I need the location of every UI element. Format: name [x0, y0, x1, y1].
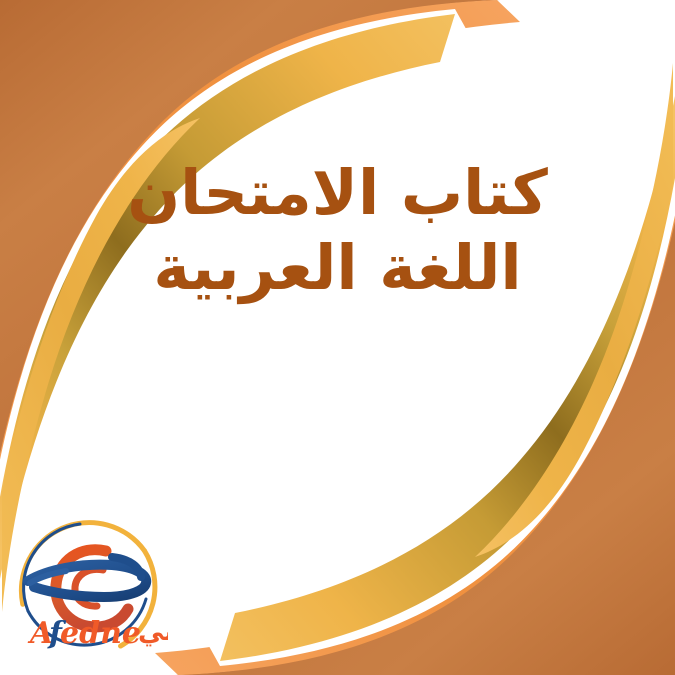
bottom-right-corner-swoosh [155, 63, 675, 675]
title-line-secondary: اللغة العربية [0, 235, 675, 302]
book-cover-canvas: كتاب الامتحان اللغة العربية [0, 0, 675, 675]
brand-logo-badge[interactable]: A f edne أفدني [8, 507, 168, 667]
logo-wordmark-arabic: أفدني [138, 614, 168, 647]
brand-logo-svg: A f edne أفدني [8, 507, 168, 667]
logo-wordmark-latin: A f edne [27, 616, 141, 651]
logo-wordmark-letters-rest: edne [60, 616, 141, 651]
cover-title-block: كتاب الامتحان اللغة العربية [0, 160, 675, 302]
title-line-primary: كتاب الامتحان [0, 160, 675, 227]
